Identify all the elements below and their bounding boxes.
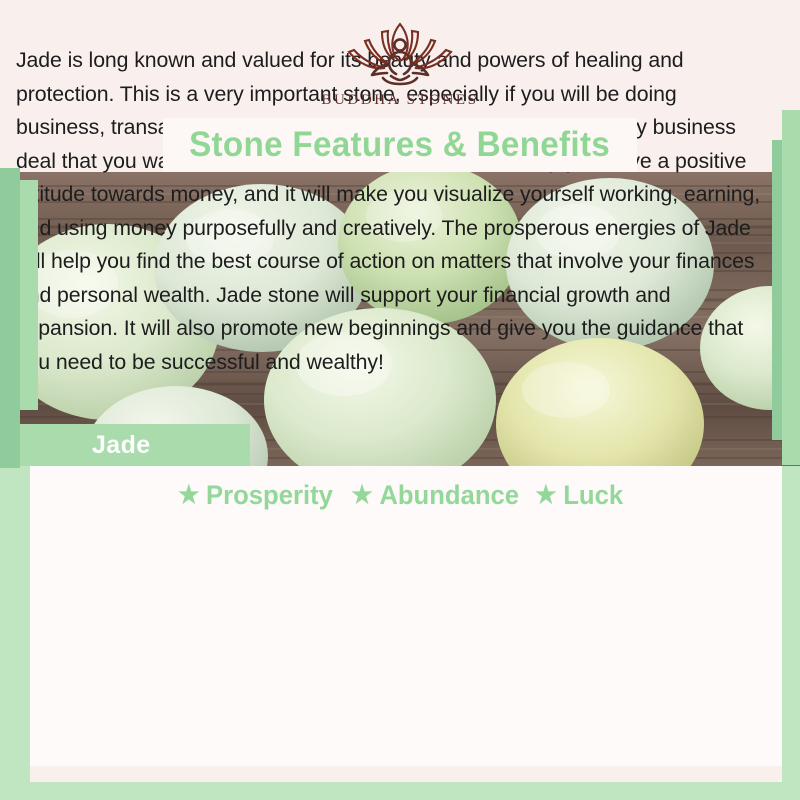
stone-info-card: BUDDHA STONES Stone Features & Benefits [0, 0, 800, 800]
decor-band-bottom-right [782, 466, 800, 800]
decor-bar-left-inner [20, 180, 38, 410]
keyword-label: Luck [564, 480, 624, 511]
star-icon: ★ [178, 483, 199, 508]
keyword-label: Abundance [379, 480, 519, 511]
keyword-prosperity: ★ Prosperity [178, 480, 333, 511]
stone-name: Jade [92, 431, 151, 460]
keyword-abundance: ★ Abundance [351, 480, 519, 511]
section-title-banner: Stone Features & Benefits [163, 118, 637, 172]
stone-name-band: Jade [18, 424, 250, 466]
decor-bar-left-outer [0, 168, 20, 468]
decor-band-bottom-left [0, 466, 30, 800]
keyword-luck: ★ Luck [536, 480, 624, 511]
decor-bar-right-inner [772, 140, 782, 440]
keyword-row: ★ Prosperity ★ Abundance ★ Luck [0, 478, 800, 512]
star-icon: ★ [351, 483, 372, 508]
lotus-meditation-icon [325, 18, 475, 90]
page-title: Stone Features & Benefits [190, 125, 611, 165]
decor-band-bottom [0, 782, 800, 800]
star-icon: ★ [536, 483, 557, 508]
brand-name: BUDDHA STONES [321, 92, 478, 109]
brand-logo: BUDDHA STONES [0, 18, 800, 118]
decor-bar-right-outer [782, 110, 800, 465]
keyword-label: Prosperity [206, 480, 333, 511]
